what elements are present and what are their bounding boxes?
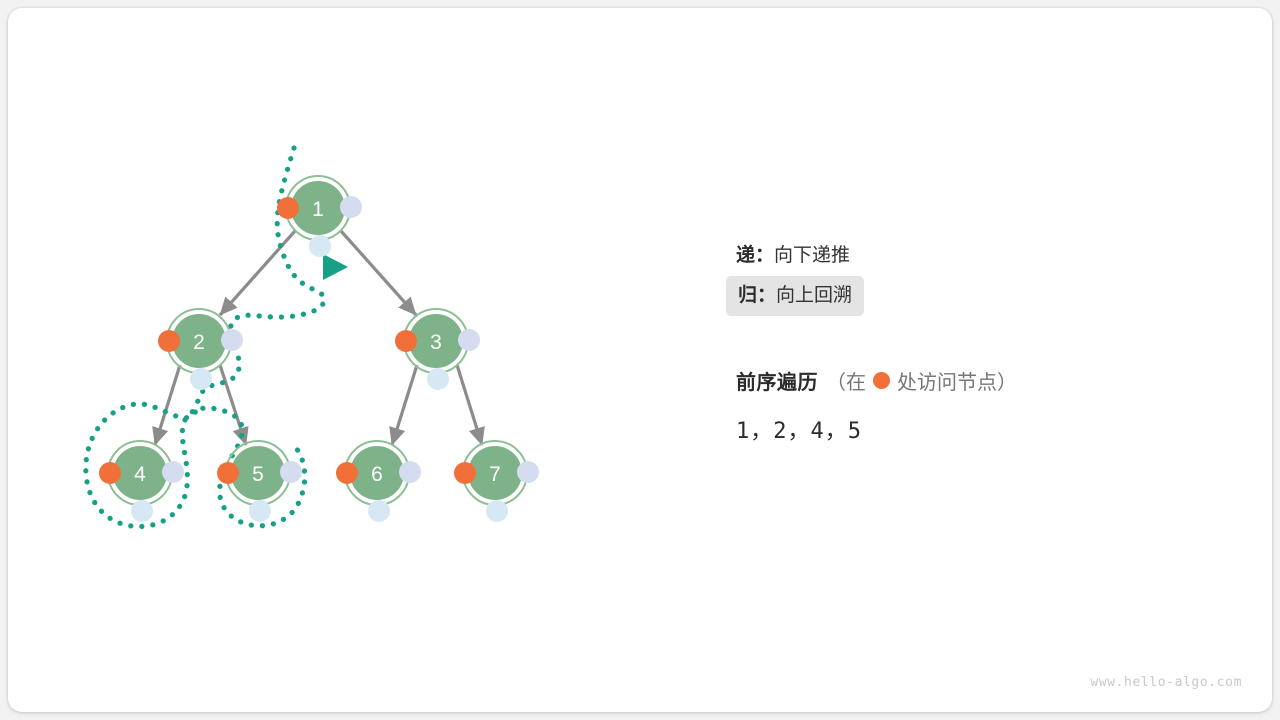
node-4-descend-dot [131,500,153,522]
tree-node-6[interactable]: 6 [336,441,421,522]
node-1-return-dot [340,196,362,218]
legend-return-label: 归： [738,276,776,316]
node-3-descend-dot [427,368,449,390]
edge-3-6 [392,365,417,445]
traversal-order-block: 前序遍历 （在 处访问节点） 1，2，4，5 [736,366,1017,445]
tree-node-5[interactable]: 5 [217,441,302,522]
legend-recurse-row: 递： 向下递推 [736,236,1186,276]
direction-marker [323,254,348,280]
node-2-descend-dot [190,368,212,390]
node-4-visit-dot [99,462,121,484]
node-1-visit-dot [277,197,299,219]
traversal-order-title: 前序遍历 [736,366,818,395]
tree-node-7[interactable]: 7 [454,441,539,522]
node-7-return-dot [517,461,539,483]
node-3-return-dot [458,329,480,351]
legend-return-row: 归： 向上回溯 [726,276,864,316]
edge-2-4 [155,365,180,445]
legend-recurse-value: 向下递推 [774,236,850,276]
node-1-label: 1 [312,198,324,221]
legend-panel: 递： 向下递推 归： 向上回溯 [726,236,1186,316]
edge-3-7 [457,365,482,445]
node-7-label: 7 [489,463,501,486]
visit-marker-dot-icon [873,372,890,389]
node-5-descend-dot [249,500,271,522]
content-card: 1 2 3 [8,8,1272,712]
legend-return-value: 向上回溯 [776,276,852,316]
edge-1-3 [341,231,416,315]
binary-tree-diagram: 1 2 3 [8,8,1272,712]
node-2-visit-dot [158,330,180,352]
node-6-return-dot [399,461,421,483]
node-4-label: 4 [134,463,146,486]
edge-1-2 [220,231,295,315]
node-5-return-dot [280,461,302,483]
node-4-return-dot [162,461,184,483]
page-root: 1 2 3 [0,0,1280,720]
node-6-descend-dot [368,500,390,522]
node-5-label: 5 [252,463,264,486]
node-7-descend-dot [486,500,508,522]
tree-node-4[interactable]: 4 [99,441,184,522]
node-5-visit-dot [217,462,239,484]
node-6-visit-dot [336,462,358,484]
node-2-return-dot [221,329,243,351]
node-3-label: 3 [430,331,442,354]
node-1-descend-dot [309,235,331,257]
node-7-visit-dot [454,462,476,484]
traversal-order-hint: 处访问节点） [897,366,1017,395]
traversal-order-paren-open: （在 [826,366,866,395]
tree-node-1[interactable]: 1 [277,176,362,257]
legend-recurse-label: 递： [736,236,774,276]
tree-node-3[interactable]: 3 [395,309,480,390]
node-3-visit-dot [395,330,417,352]
site-watermark: www.hello-algo.com [1090,675,1242,690]
traversal-order-values: 1，2，4，5 [736,413,1017,445]
traversal-order-header: 前序遍历 （在 处访问节点） [736,366,1017,395]
node-2-label: 2 [193,331,205,354]
node-6-label: 6 [371,463,383,486]
